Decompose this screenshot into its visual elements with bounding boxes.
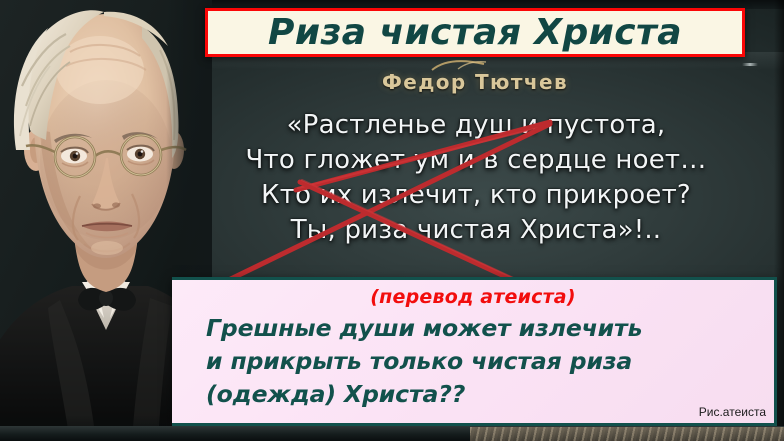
background-glint-icon <box>742 63 758 66</box>
poem-line: Что гложет ум и в сердце ноет… <box>196 143 756 178</box>
translation-panel: (перевод атеиста) Грешные души может изл… <box>172 277 777 426</box>
panel-lead-label: (перевод атеиста) <box>172 286 774 308</box>
poem-line: «Растленье душ и пустота, <box>196 108 756 143</box>
panel-body-text: Грешные души может излечить и прикрыть т… <box>206 312 760 411</box>
panel-body-line: и прикрыть только чистая риза <box>206 345 760 378</box>
panel-body-line: Грешные души может излечить <box>206 312 760 345</box>
background-bottom-texture <box>470 427 784 441</box>
page-title: Риза чистая Христа <box>268 15 682 51</box>
author-name: Федор Тютчев <box>205 70 745 94</box>
poem-quote: «Растленье душ и пустота, Что гложет ум … <box>196 108 756 248</box>
credit-label: Рис.атеиста <box>699 405 766 419</box>
poem-line: Ты, риза чистая Христа»!.. <box>196 213 756 248</box>
panel-body-line: (одежда) Христа?? <box>206 378 760 411</box>
poem-line: Кто их излечит, кто прикроет? <box>196 178 756 213</box>
title-plate: Риза чистая Христа <box>205 8 745 57</box>
slide-canvas: Риза чистая Христа Федор Тютчев «Растлен… <box>0 0 784 441</box>
